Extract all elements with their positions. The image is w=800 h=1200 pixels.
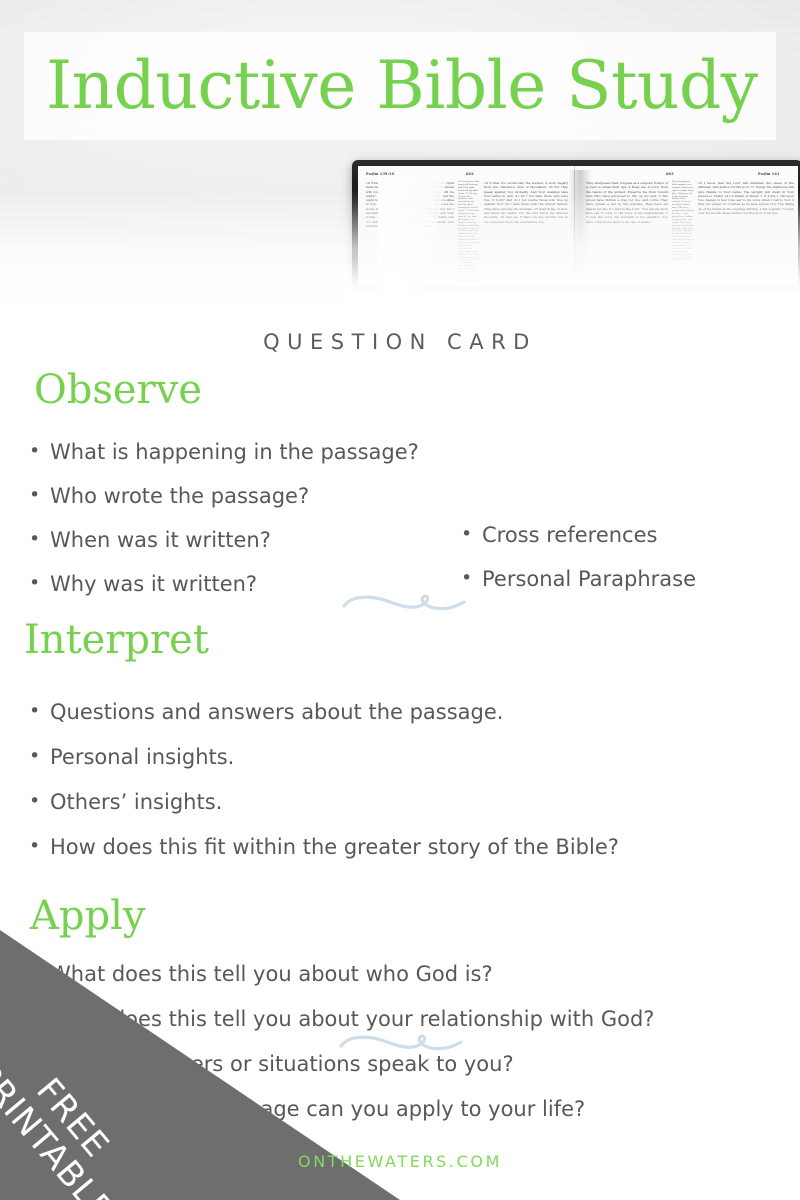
bible-right-page-header: Psalm 141 xyxy=(758,172,780,176)
section-heading-observe: Observe xyxy=(34,370,202,410)
list-item: Why was it written? xyxy=(50,572,419,596)
list-item: Questions and answers about the passage. xyxy=(50,700,619,724)
observe-question-list: What is happening in the passage? Who wr… xyxy=(20,440,419,616)
list-item: Personal Paraphrase xyxy=(482,567,696,591)
list-item: How does this fit within the greater sto… xyxy=(50,835,619,859)
interpret-question-list: Questions and answers about the passage.… xyxy=(20,700,619,880)
footer-website-url: ONTHEWATERS.COM xyxy=(0,1152,800,1171)
bible-left-page-number: 662 xyxy=(466,172,474,176)
printable-page: Psalm 139:10 662 10 Even there Your hand… xyxy=(0,0,800,1200)
list-item: When was it written? xyxy=(50,528,419,552)
page-title: Inductive Bible Study xyxy=(24,32,776,140)
title-banner: Inductive Bible Study xyxy=(24,32,776,140)
observe-question-list-secondary: Cross references Personal Paraphrase xyxy=(452,523,696,611)
list-item: Personal insights. xyxy=(50,745,619,769)
list-item: Who wrote the passage? xyxy=(50,484,419,508)
bible-left-page-header: Psalm 139:10 xyxy=(366,172,394,176)
list-item: What is happening in the passage? xyxy=(50,440,419,464)
list-item: Others’ insights. xyxy=(50,790,619,814)
photo-bottom-fade xyxy=(0,190,800,320)
list-item: Cross references xyxy=(482,523,696,547)
bible-right-page-number: 663 xyxy=(666,172,674,176)
question-card-label: QUESTION CARD xyxy=(0,330,800,354)
section-heading-interpret: Interpret xyxy=(24,620,209,660)
